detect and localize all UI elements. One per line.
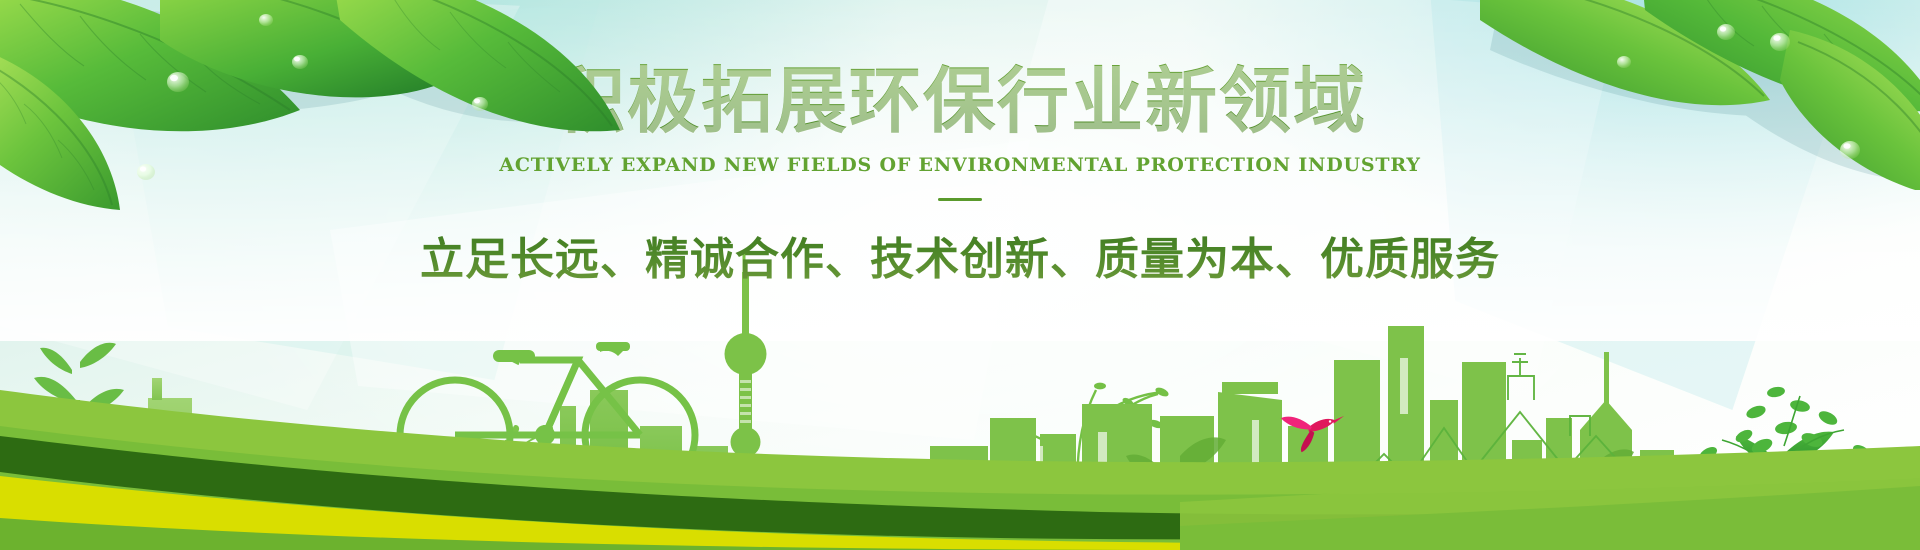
dew-drop-icon bbox=[1770, 33, 1790, 51]
page-tagline: 立足长远、精诚合作、技术创新、质量为本、优质服务 bbox=[0, 223, 1920, 287]
leaves-top-right-group bbox=[1440, 0, 1920, 190]
leaves-top-left-group bbox=[0, 0, 760, 210]
dew-drop-icon bbox=[259, 14, 273, 26]
dew-drop-icon bbox=[1840, 141, 1860, 159]
dew-drop-icon bbox=[472, 97, 488, 111]
dew-drop-icon bbox=[1617, 56, 1631, 68]
dew-drop-icon bbox=[292, 55, 308, 69]
title-divider bbox=[938, 198, 982, 201]
scenery-layer bbox=[0, 250, 1920, 550]
dew-drop-icon bbox=[1717, 24, 1735, 40]
eco-banner: 积极拓展环保行业新领域 ACTIVELY EXPAND NEW FIELDS O… bbox=[0, 0, 1920, 550]
dew-drop-icon bbox=[137, 164, 155, 180]
dew-drop-icon bbox=[167, 72, 189, 92]
